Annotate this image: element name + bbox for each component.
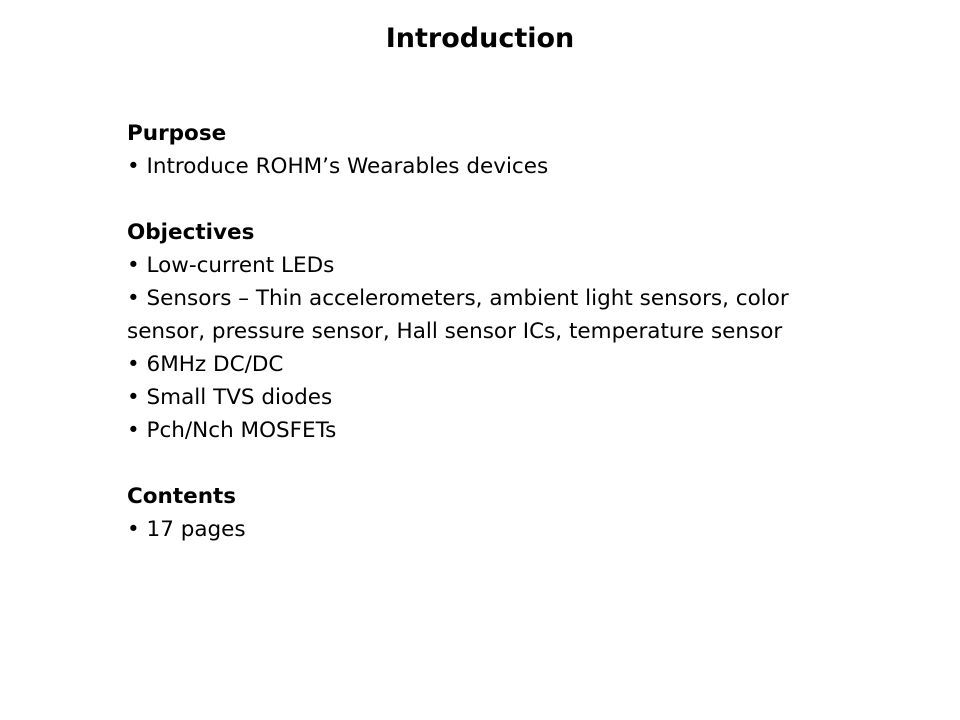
bullet-item: • Low-current LEDs — [127, 249, 807, 282]
blank-line — [127, 447, 807, 480]
bullet-item: • Introduce ROHM’s Wearables devices — [127, 150, 807, 183]
slide-body: Purpose • Introduce ROHM’s Wearables dev… — [127, 117, 807, 546]
bullet-item: • 17 pages — [127, 513, 807, 546]
blank-line — [127, 183, 807, 216]
section-heading-objectives: Objectives — [127, 216, 807, 249]
page-title: Introduction — [0, 22, 960, 56]
section-heading-contents: Contents — [127, 480, 807, 513]
bullet-item: • Pch/Nch MOSFETs — [127, 414, 807, 447]
bullet-item: • 6MHz DC/DC — [127, 348, 807, 381]
slide: Introduction Purpose • Introduce ROHM’s … — [0, 0, 960, 720]
section-heading-purpose: Purpose — [127, 117, 807, 150]
bullet-item: • Small TVS diodes — [127, 381, 807, 414]
bullet-item: • Sensors – Thin accelerometers, ambient… — [127, 282, 807, 348]
